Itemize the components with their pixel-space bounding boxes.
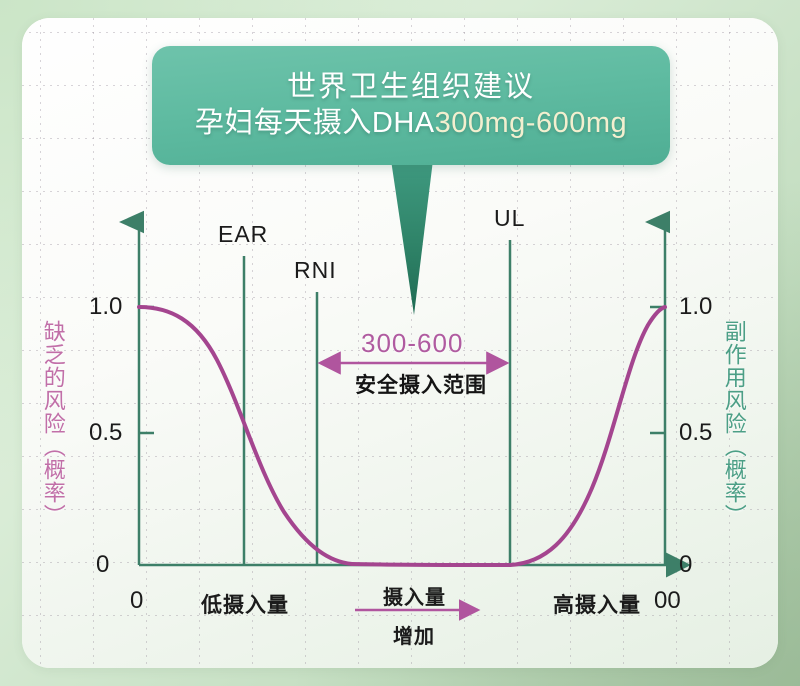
right-tick-label-1-0: 1.0 [679, 293, 712, 321]
x-axis-high-intake-label: 高摄入量 [553, 589, 641, 619]
left-axis-title: 缺乏的风险（概率） [41, 320, 65, 560]
marker-label-ul: UL [494, 205, 525, 232]
left-tick-label-0-5: 0.5 [89, 419, 122, 447]
deficiency-risk-curve-flat [352, 564, 510, 565]
marker-label-rni: RNI [294, 257, 337, 284]
x-axis-end-label: 00 [654, 587, 681, 615]
right-axis-title: 副作用风险（概率） [722, 320, 746, 560]
x-axis-title-top: 摄入量 [383, 581, 446, 610]
x-axis-title-bottom: 增加 [393, 620, 435, 649]
callout-tail [391, 160, 433, 315]
right-tick-label-0: 0 [679, 551, 692, 579]
who-recommendation-banner: 世界卫生组织建议 孕妇每天摄入DHA300mg-600mg [152, 46, 670, 165]
left-tick-label-0: 0 [96, 551, 109, 579]
left-tick-label-1-0: 1.0 [89, 293, 122, 321]
poster-root: 世界卫生组织建议 孕妇每天摄入DHA300mg-600mg 1.0 0.5 0 … [0, 0, 800, 686]
side-effect-risk-curve [510, 307, 665, 565]
banner-line-2-prefix: 孕妇每天摄入DHA [195, 107, 435, 139]
banner-dose-value: 300mg-600mg [435, 107, 628, 139]
x-axis-low-intake-label: 低摄入量 [201, 589, 289, 619]
safe-range-caption: 安全摄入范围 [355, 369, 487, 399]
banner-line-1: 世界卫生组织建议 [287, 69, 535, 105]
deficiency-risk-curve [139, 307, 352, 564]
safe-range-value: 300-600 [361, 328, 463, 359]
banner-line-2: 孕妇每天摄入DHA300mg-600mg [195, 105, 627, 143]
marker-label-ear: EAR [218, 221, 268, 248]
x-axis-start-label: 0 [130, 587, 143, 615]
right-tick-label-0-5: 0.5 [679, 419, 712, 447]
